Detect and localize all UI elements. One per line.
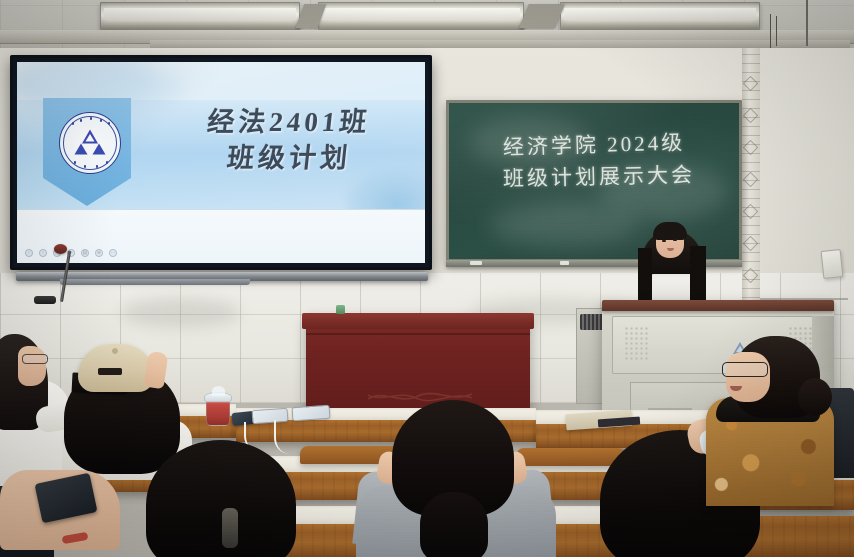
blackboard-text-line-2: 班级计划展示大会	[449, 158, 739, 194]
slide-title-line-1: 经法2401班	[147, 104, 425, 140]
lectern-carving	[624, 326, 650, 362]
presentation-toolbar[interactable]: ‹ › ✎ ✳ ▤ ⊕ ⋯	[25, 249, 117, 257]
eyeglasses-icon	[22, 354, 48, 364]
wall-pilaster	[742, 48, 760, 316]
slide-title: 经法2401班 班级计划	[143, 104, 425, 177]
wall-smudge	[120, 298, 240, 328]
student-presenter	[636, 222, 710, 308]
classroom-photo: 经法2401班 班级计划 ‹ › ✎ ✳ ▤ ⊕ ⋯ 经济学院 2024级	[0, 0, 854, 557]
center-student-ponytail	[420, 492, 488, 557]
fluorescent-tube	[564, 8, 756, 20]
microphone-head	[54, 244, 67, 254]
presentation-slide: 经法2401班 班级计划 ‹ › ✎ ✳ ▤ ⊕ ⋯	[17, 62, 425, 263]
cup-dome-lid	[212, 386, 225, 396]
cup-body	[206, 398, 230, 426]
teacher-desk-seam	[306, 333, 530, 335]
zoom-icon[interactable]: ⊕	[95, 249, 103, 257]
fluorescent-tube	[104, 8, 296, 20]
teacher-hair-bun	[798, 378, 832, 416]
fluorescent-tube	[322, 8, 520, 20]
wall-switch-plate[interactable]	[821, 249, 844, 279]
previous-slide-icon[interactable]: ‹	[25, 249, 33, 257]
ceiling-light-fixture	[560, 2, 760, 30]
ceiling-wire	[770, 14, 771, 48]
projection-screen[interactable]: 经法2401班 班级计划 ‹ › ✎ ✳ ▤ ⊕ ⋯	[10, 55, 432, 270]
microphone-base	[34, 296, 56, 304]
cap-button	[112, 348, 118, 354]
teacher-desk-top	[302, 313, 534, 329]
hair-clip	[222, 508, 238, 548]
ceiling-light-fixture	[318, 2, 524, 30]
screen-mount-lip	[60, 279, 250, 285]
chair-back[interactable]	[516, 448, 626, 466]
marker-cap[interactable]	[336, 305, 345, 314]
emblem-mark-icon	[73, 128, 107, 156]
ceiling-pipe	[806, 0, 808, 46]
eyeglasses-icon	[722, 362, 768, 377]
next-slide-icon[interactable]: ›	[39, 249, 47, 257]
phone-silver-right[interactable]	[292, 405, 331, 422]
cap-label	[98, 368, 122, 375]
presenter-hair-strand	[690, 246, 706, 308]
lectern-top-surface	[602, 300, 834, 311]
student-left-face	[18, 346, 46, 386]
more-options-icon[interactable]: ⋯	[109, 249, 117, 257]
ceiling-wire	[776, 16, 777, 46]
university-emblem	[59, 112, 121, 174]
chalk-piece[interactable]	[470, 261, 482, 265]
teacher-face	[726, 352, 770, 402]
chalk-dust	[489, 203, 639, 247]
charging-cable-2	[274, 420, 296, 454]
chalk-piece[interactable]	[560, 261, 569, 265]
presenter-eye	[662, 240, 666, 242]
iced-drink-cup[interactable]	[206, 390, 230, 426]
presenter-eye	[673, 239, 677, 241]
ceiling-light-fixture	[100, 2, 300, 30]
presenter-hair-top	[653, 222, 687, 240]
slide-menu-icon[interactable]: ▤	[81, 249, 89, 257]
presenter-hair-strand	[638, 248, 652, 306]
